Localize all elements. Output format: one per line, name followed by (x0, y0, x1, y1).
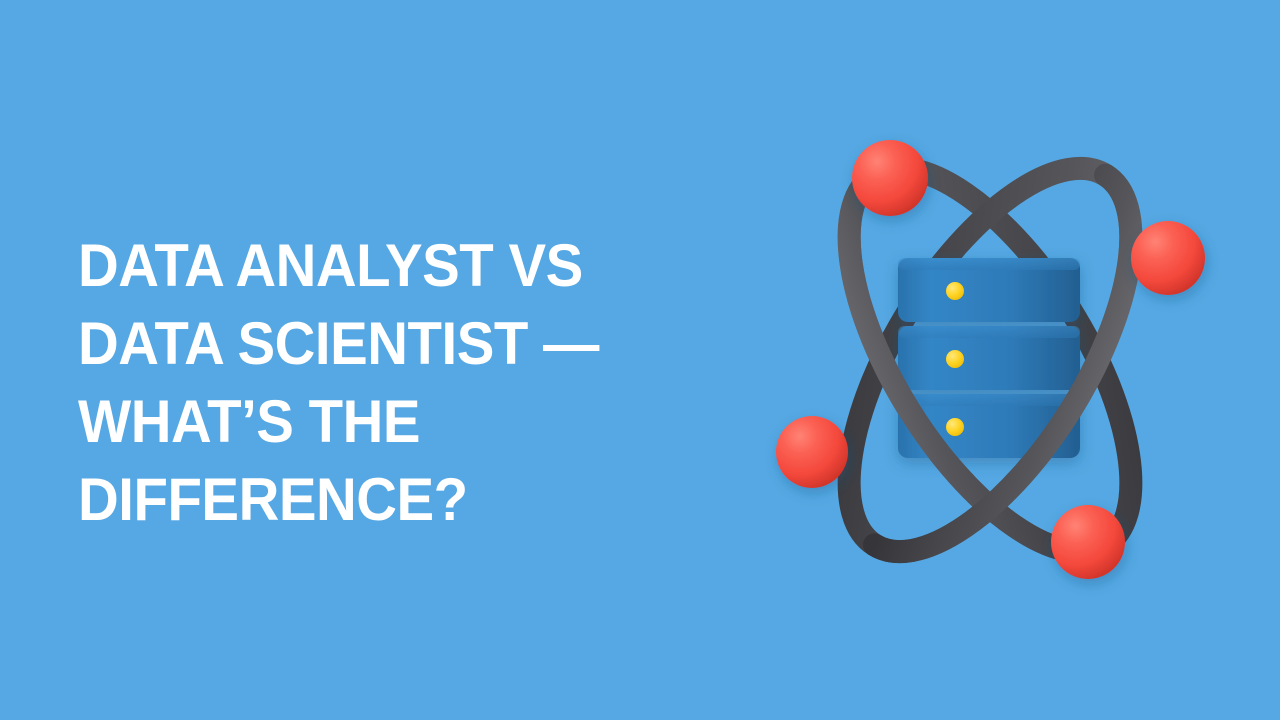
electron-top (852, 140, 928, 216)
title-line-3: WHAT’S THE (78, 383, 661, 461)
atom-database-illustration (740, 110, 1240, 610)
server-led-bottom (946, 418, 964, 436)
slide-canvas: DATA ANALYST VS DATA SCIENTIST — WHAT’S … (0, 0, 1280, 720)
server-unit-top (898, 258, 1080, 322)
page-title: DATA ANALYST VS DATA SCIENTIST — WHAT’S … (78, 227, 698, 539)
title-line-2: DATA SCIENTIST — (78, 305, 661, 383)
electron-right (1131, 221, 1205, 295)
title-line-4: DIFFERENCE? (78, 461, 661, 539)
server-unit-middle (898, 326, 1080, 390)
server-led-middle (946, 350, 964, 368)
electron-bottom-right (1051, 505, 1125, 579)
server-led-top (946, 282, 964, 300)
electron-left (776, 416, 848, 488)
title-line-1: DATA ANALYST VS (78, 227, 661, 305)
